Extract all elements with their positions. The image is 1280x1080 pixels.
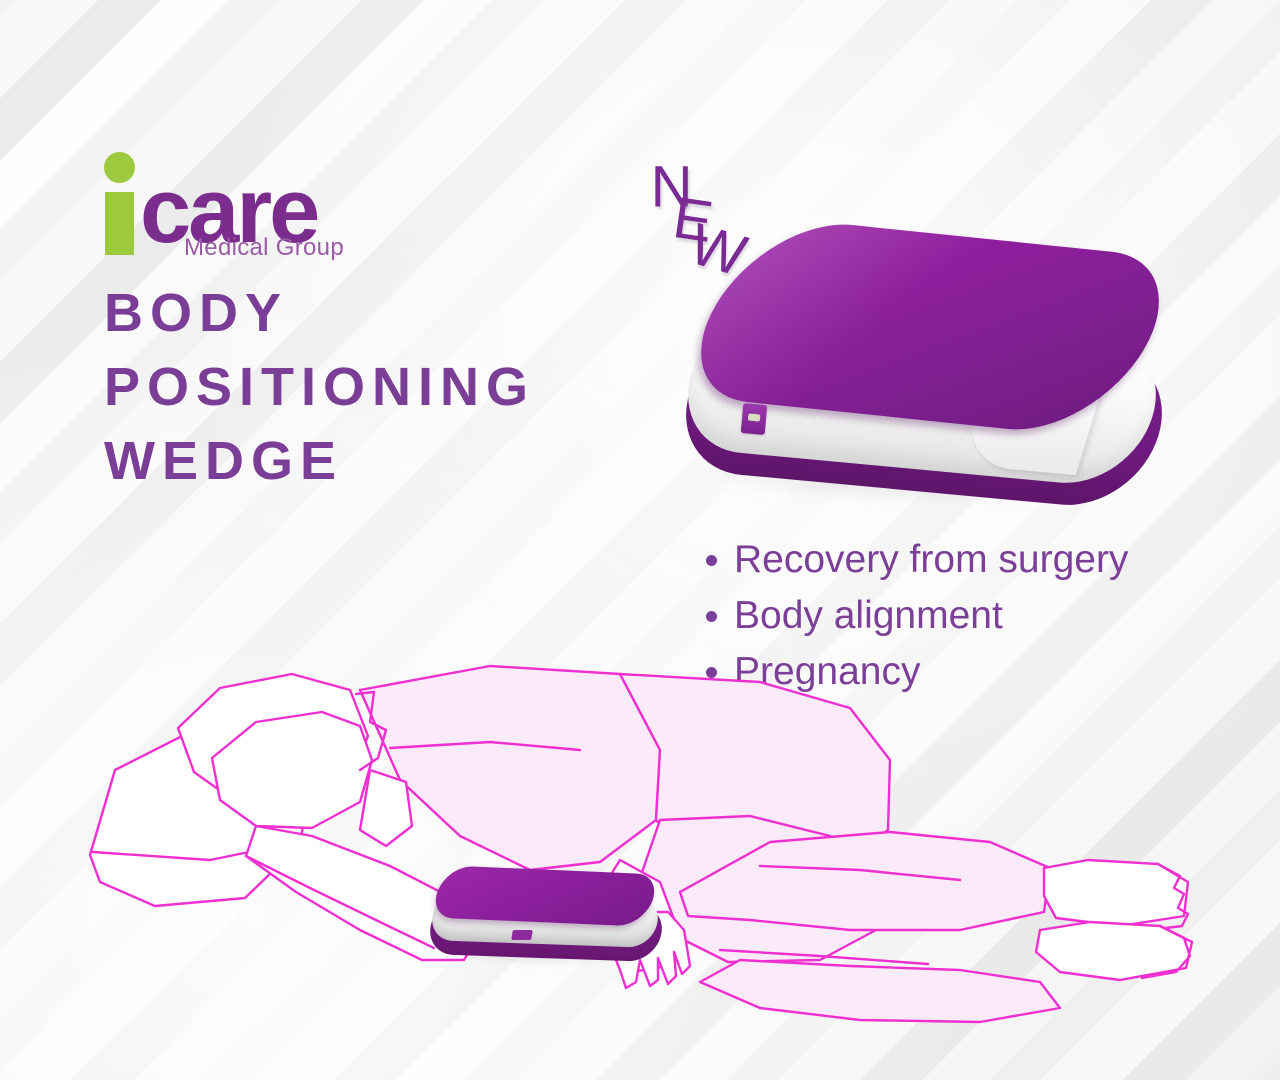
product-hero-image	[676, 226, 1196, 526]
neck	[360, 770, 412, 846]
side-lying-person-drawing	[60, 630, 1240, 1030]
logo-i-stem-icon	[105, 192, 134, 255]
benefit-label: Recovery from surgery	[734, 538, 1128, 582]
headline-line-3: WEDGE	[104, 424, 704, 498]
brand-logo: care Medical Group	[96, 148, 396, 263]
wedge-in-use	[424, 866, 674, 966]
wedge-in-use-brand-tag	[511, 930, 533, 940]
torso-shirt	[360, 666, 660, 870]
logo-i-dot-icon	[104, 152, 135, 183]
bullet-dot-icon	[706, 611, 717, 622]
bullet-dot-icon	[706, 555, 717, 566]
logo-tagline: Medical Group	[184, 234, 344, 262]
headline-line-2: POSITIONING	[104, 350, 704, 424]
list-item: Recovery from surgery	[706, 538, 1176, 582]
wedge-in-use-top-surface	[428, 865, 662, 926]
poster-canvas: care Medical Group BODY POSITIONING WEDG…	[0, 0, 1280, 1080]
usage-illustration	[60, 630, 1240, 1030]
thigh-lower-leg	[700, 960, 1060, 1022]
logo-wordmark: care	[96, 148, 396, 234]
headline-line-1: BODY	[104, 276, 704, 350]
page-title: BODY POSITIONING WEDGE	[104, 276, 704, 498]
product-brand-tag	[741, 403, 768, 435]
